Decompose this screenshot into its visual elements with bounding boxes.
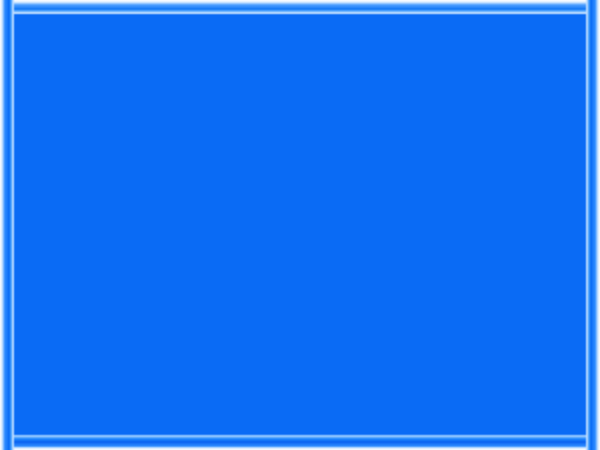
keyboard-key [355, 406, 380, 429]
notebook-spiral-rings-icon [259, 12, 315, 50]
keyboard-key [327, 406, 352, 429]
keyboard-key [411, 432, 436, 438]
keyboard [96, 398, 498, 438]
keyboard-row-2 [97, 429, 497, 438]
keyboard-key [270, 406, 295, 429]
keyboard-key [214, 406, 239, 429]
keyboard-key [439, 432, 464, 438]
keyboard-key [327, 432, 352, 438]
eyeglasses-icon [452, 12, 588, 128]
keyboard-key [214, 432, 239, 438]
keyboard-key [411, 406, 436, 429]
keyboard-key [439, 406, 464, 429]
potted-plant-icon [12, 12, 179, 156]
tablet-screen [12, 179, 99, 392]
keyboard-key [130, 432, 155, 438]
keyboard-key [467, 432, 492, 438]
keyboard-key [186, 406, 211, 429]
keyboard-key [383, 406, 408, 429]
keyboard-key [102, 432, 127, 438]
keyboard-key [383, 432, 408, 438]
keyboard-row-1 [97, 399, 497, 429]
keyboard-key [299, 432, 324, 438]
keyboard-key [158, 432, 183, 438]
keyboard-key [186, 432, 211, 438]
keyboard-key [270, 432, 295, 438]
keyboard-key [158, 406, 183, 429]
keyboard-key [299, 406, 324, 429]
closed-for-vacation-poster: *Cerrado* Por vacaciones se reanudan los… [0, 0, 600, 450]
keyboard-key [130, 406, 155, 429]
keyboard-key [102, 406, 127, 429]
desk-photo-background [12, 12, 588, 438]
keyboard-key [242, 406, 267, 429]
keyboard-key [355, 432, 380, 438]
keyboard-key [242, 432, 267, 438]
keyboard-key [467, 406, 492, 429]
